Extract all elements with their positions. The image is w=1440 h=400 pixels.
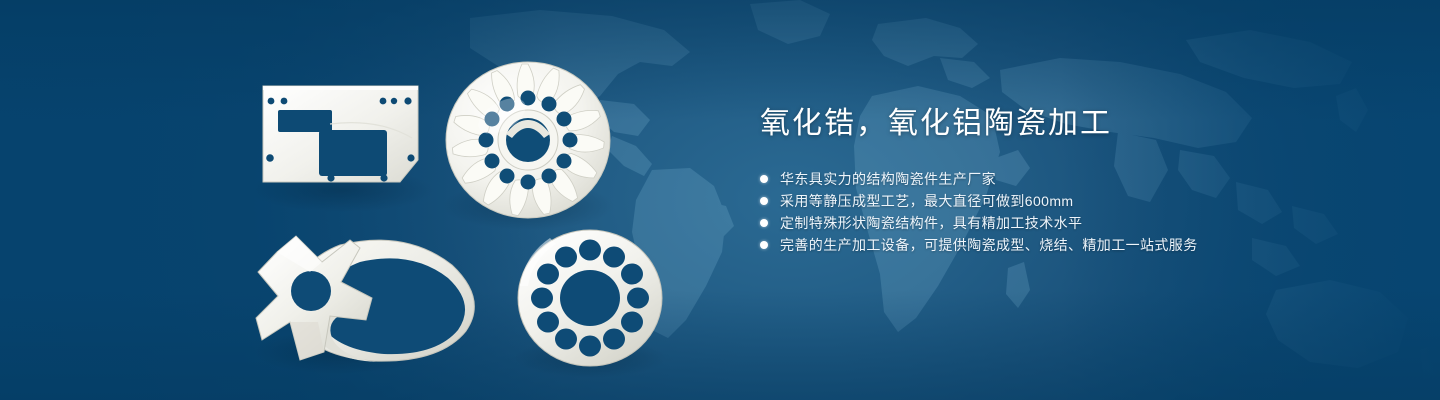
ceramic-impeller-part — [446, 62, 610, 218]
page-title: 氧化锆，氧化铝陶瓷加工 — [760, 104, 1380, 144]
banner-copy: 氧化锆，氧化铝陶瓷加工 华东具实力的结构陶瓷件生产厂家 采用等静压成型工艺，最大… — [760, 104, 1380, 256]
ceramic-perforated-disc-part — [518, 230, 662, 366]
list-item: 采用等静压成型工艺，最大直径可做到600mm — [760, 190, 1380, 212]
bullet-dot-icon — [760, 197, 768, 205]
bullet-dot-icon — [760, 241, 768, 249]
feature-text: 华东具实力的结构陶瓷件生产厂家 — [780, 168, 996, 190]
product-image-cluster — [0, 0, 720, 400]
feature-text: 完善的生产加工设备，可提供陶瓷成型、烧结、精加工一站式服务 — [780, 234, 1198, 256]
list-item: 华东具实力的结构陶瓷件生产厂家 — [760, 168, 1380, 190]
product-banner: 氧化锆，氧化铝陶瓷加工 华东具实力的结构陶瓷件生产厂家 采用等静压成型工艺，最大… — [0, 0, 1440, 400]
list-item: 定制特殊形状陶瓷结构件，具有精加工技术水平 — [760, 212, 1380, 234]
bullet-dot-icon — [760, 175, 768, 183]
feature-list: 华东具实力的结构陶瓷件生产厂家 采用等静压成型工艺，最大直径可做到600mm 定… — [760, 168, 1380, 256]
ceramic-plate-part — [263, 86, 418, 182]
bullet-dot-icon — [760, 219, 768, 227]
feature-text: 采用等静压成型工艺，最大直径可做到600mm — [780, 190, 1073, 212]
feature-text: 定制特殊形状陶瓷结构件，具有精加工技术水平 — [780, 212, 1082, 234]
list-item: 完善的生产加工设备，可提供陶瓷成型、烧结、精加工一站式服务 — [760, 234, 1380, 256]
